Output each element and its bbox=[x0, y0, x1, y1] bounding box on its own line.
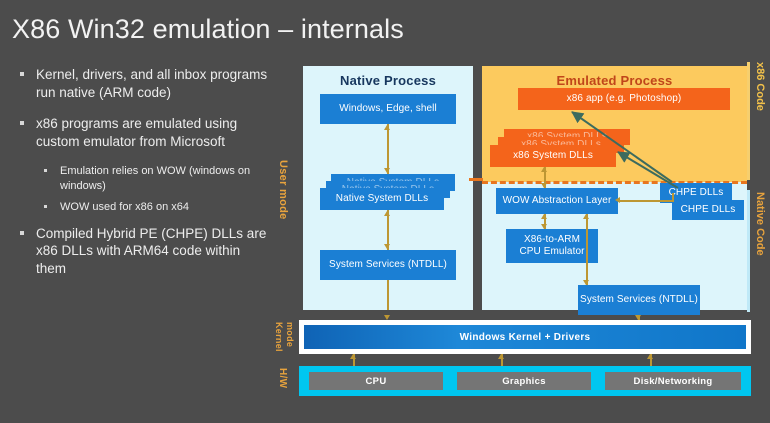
box-x86-app[interactable]: x86 app (e.g. Photoshop) bbox=[518, 88, 730, 110]
label-user-mode: User mode bbox=[277, 160, 289, 220]
connector-arrowhead-down-icon bbox=[541, 183, 547, 188]
connector-arrowhead-down-icon bbox=[583, 280, 589, 285]
bullet-item-emulation-wow: Emulation relies on WOW (windows on wind… bbox=[14, 164, 269, 193]
bullet-text: Emulation relies on WOW (windows on wind… bbox=[60, 165, 250, 192]
cpu-emulator-line1: X86-to-ARM bbox=[524, 234, 580, 245]
bullet-text: x86 programs are emulated using custom e… bbox=[36, 116, 237, 149]
label-hardware: H/W bbox=[277, 368, 288, 388]
box-chpe-dlls-2[interactable]: CHPE DLLs bbox=[672, 200, 744, 220]
connector-arrowhead-up-icon bbox=[541, 214, 547, 219]
bullet-item-x86-emulated: x86 programs are emulated using custom e… bbox=[14, 115, 269, 150]
label-kernel-mode-line1: Kernel bbox=[274, 322, 284, 352]
bullet-marker-icon bbox=[44, 169, 47, 172]
connector-arrowhead-down-icon bbox=[384, 315, 390, 320]
bullet-text: Kernel, drivers, and all inbox programs … bbox=[36, 67, 267, 100]
connector-arrowhead-up-icon bbox=[498, 354, 504, 359]
native-code-edge-bar bbox=[747, 190, 750, 312]
box-disk-networking[interactable]: Disk/Networking bbox=[605, 372, 741, 390]
connector-arrowhead-down-icon bbox=[541, 224, 547, 229]
slide-canvas: X86 Win32 emulation – internals Kernel, … bbox=[0, 0, 770, 423]
box-windows-kernel-drivers[interactable]: Windows Kernel + Drivers bbox=[304, 325, 746, 349]
connector-ntdll-to-kernel bbox=[387, 280, 389, 310]
connector-arrowhead-down-icon bbox=[384, 244, 390, 249]
connector-wow-to-ntdll bbox=[586, 214, 588, 285]
divider-stub bbox=[469, 178, 483, 181]
label-x86-code: x86 Code bbox=[754, 62, 766, 111]
bullet-marker-icon bbox=[20, 231, 24, 235]
hardware-band: CPU Graphics Disk/Networking bbox=[299, 366, 751, 396]
box-graphics[interactable]: Graphics bbox=[457, 372, 591, 390]
connector-arrowhead-up-icon bbox=[583, 214, 589, 219]
connector-arrowhead-up-icon bbox=[541, 167, 547, 172]
box-native-system-services-ntdll[interactable]: System Services (NTDLL) bbox=[320, 250, 456, 280]
emulated-process-panel: Emulated Process x86 app (e.g. Photoshop… bbox=[482, 66, 747, 310]
connector-chpe-to-wow bbox=[618, 200, 674, 202]
box-windows-edge-shell[interactable]: Windows, Edge, shell bbox=[320, 94, 456, 124]
bullet-list: Kernel, drivers, and all inbox programs … bbox=[14, 66, 269, 291]
connector-arrowhead-up-icon bbox=[647, 354, 653, 359]
bullet-marker-icon bbox=[44, 205, 47, 208]
box-x86-to-arm-cpu-emulator[interactable]: X86-to-ARM CPU Emulator bbox=[506, 229, 598, 263]
connector-arrowhead-left-icon bbox=[615, 197, 620, 203]
bullet-text: WOW used for x86 on x64 bbox=[60, 201, 189, 213]
page-title: X86 Win32 emulation – internals bbox=[12, 14, 404, 45]
cpu-emulator-line2: CPU Emulator bbox=[519, 246, 584, 257]
box-cpu[interactable]: CPU bbox=[309, 372, 443, 390]
label-native-code: Native Code bbox=[754, 192, 766, 256]
bullet-item-wow-x86-x64: WOW used for x86 on x64 bbox=[14, 200, 269, 215]
bullet-item-chpe: Compiled Hybrid PE (CHPE) DLLs are x86 D… bbox=[14, 225, 269, 278]
connector-arrowhead-up-icon bbox=[384, 211, 390, 216]
connector-arrowhead-up-icon bbox=[384, 125, 390, 130]
native-process-title: Native Process bbox=[303, 73, 473, 88]
connector-arrowhead-up-icon bbox=[350, 354, 356, 359]
box-wow-abstraction-layer[interactable]: WOW Abstraction Layer bbox=[496, 188, 618, 214]
emulated-process-title: Emulated Process bbox=[482, 73, 747, 88]
box-x86-system-dlls-front[interactable]: x86 System DLLs bbox=[490, 145, 616, 167]
bullet-item-kernel-drivers: Kernel, drivers, and all inbox programs … bbox=[14, 66, 269, 101]
kernel-mode-frame: Windows Kernel + Drivers bbox=[299, 320, 751, 354]
label-kernel-mode-line2: mode bbox=[285, 322, 295, 347]
bullet-text: Compiled Hybrid PE (CHPE) DLLs are x86 D… bbox=[36, 226, 266, 276]
box-native-system-dlls-front[interactable]: Native System DLLs bbox=[320, 188, 444, 210]
bullet-marker-icon bbox=[20, 72, 24, 76]
x86-code-edge-bar bbox=[747, 62, 750, 180]
connector-chpe-drop bbox=[672, 193, 674, 202]
connector-arrowhead-down-icon bbox=[635, 315, 641, 320]
connector-arrowhead-down-icon bbox=[384, 168, 390, 173]
connector-app-to-dlls bbox=[387, 124, 389, 174]
box-emulated-system-services-ntdll[interactable]: System Services (NTDLL) bbox=[578, 285, 700, 315]
bullet-marker-icon bbox=[20, 121, 24, 125]
native-process-panel: Native Process Windows, Edge, shell Nati… bbox=[303, 66, 473, 310]
